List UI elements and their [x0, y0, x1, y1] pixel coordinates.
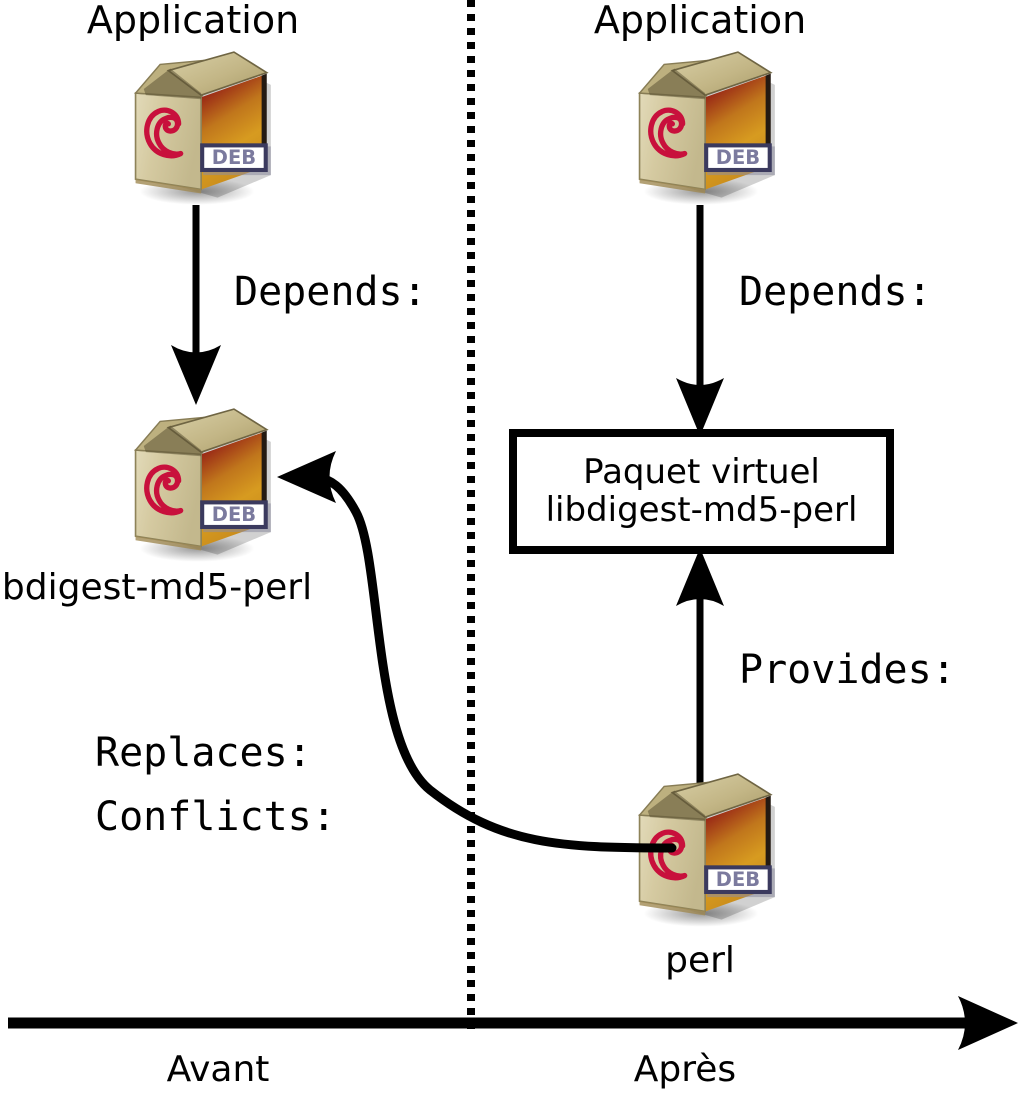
relation-label-depends-before: Depends:: [234, 272, 427, 312]
timeline-label-before: Avant: [167, 1052, 270, 1088]
relation-label-depends-after: Depends:: [739, 272, 932, 312]
package-label-libdigest-before: libdigest-md5-perl: [0, 570, 312, 606]
arrow-depends-before: [171, 205, 221, 405]
relation-label-provides: Provides:: [739, 650, 956, 690]
diagram-canvas: DEB: [0, 0, 1024, 1094]
package-icon-libdigest-before: [136, 409, 271, 562]
package-icon-application-before: [136, 52, 271, 205]
relation-label-replaces: Replaces:: [95, 733, 312, 773]
package-label-perl: perl: [665, 943, 735, 979]
page-title-application-before: Application: [87, 1, 299, 39]
page-title-application-after: Application: [594, 1, 806, 39]
timeline-axis: [8, 996, 1018, 1050]
arrow-depends-after: [676, 205, 724, 436]
relation-label-conflicts: Conflicts:: [95, 797, 336, 837]
virtual-package-box: [513, 433, 890, 550]
timeline-label-after: Après: [634, 1052, 736, 1088]
package-icon-application-after: [640, 52, 775, 205]
arrow-provides: [676, 548, 724, 787]
diagram-graphics: DEB: [0, 0, 1024, 1094]
